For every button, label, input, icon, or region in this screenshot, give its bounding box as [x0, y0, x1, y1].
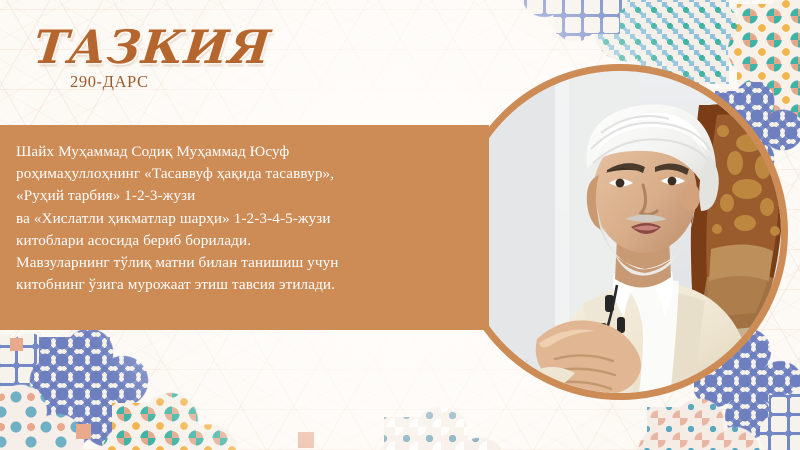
lesson-number: 290-ДАРС — [70, 72, 334, 92]
description-text-band: Шайх Муҳаммад Содиқ Муҳаммад Юсуф роҳима… — [0, 125, 489, 330]
description-text: Шайх Муҳаммад Содиқ Муҳаммад Юсуф роҳима… — [16, 141, 479, 296]
poster-canvas: Шайх Муҳаммад Содиқ Муҳаммад Юсуф роҳима… — [0, 0, 800, 450]
portrait-photo — [459, 71, 781, 393]
page-title: ТАЗКИЯ — [32, 24, 274, 70]
brand-block: ТАЗКИЯ 290-ДАРС — [34, 24, 334, 92]
portrait-circle-frame — [452, 64, 788, 400]
portrait-illustration — [459, 71, 781, 393]
